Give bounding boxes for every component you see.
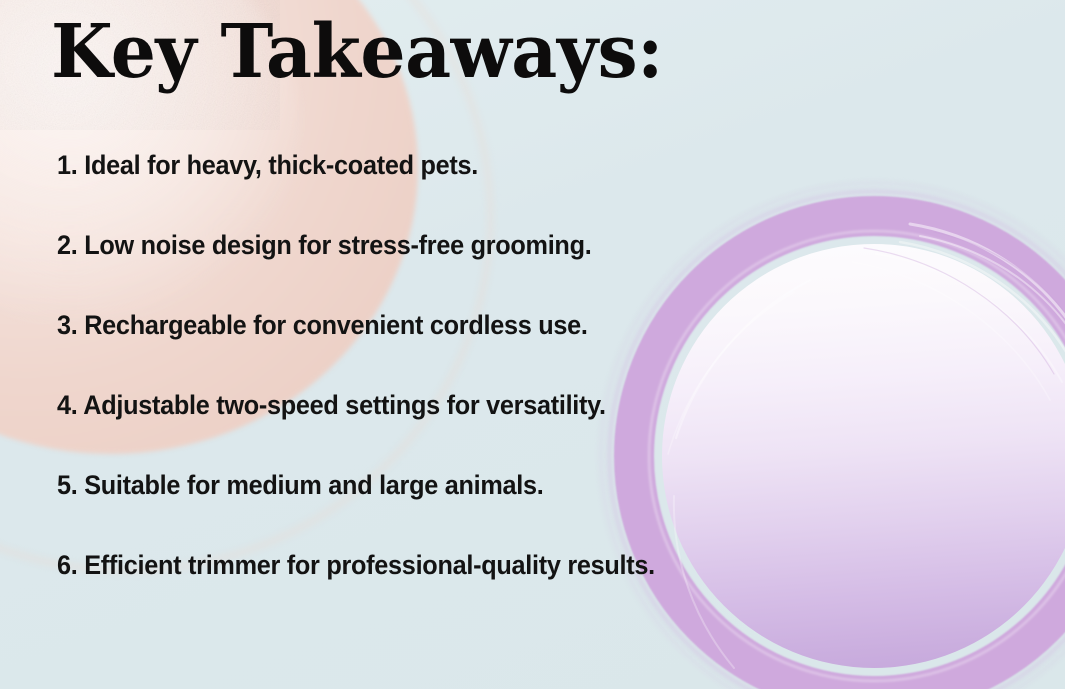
list-item: 5. Suitable for medium and large animals… bbox=[57, 472, 712, 552]
list-item: 4. Adjustable two-speed settings for ver… bbox=[57, 392, 712, 472]
list-item: 2. Low noise design for stress-free groo… bbox=[57, 232, 712, 312]
list-item: 3. Rechargeable for convenient cordless … bbox=[57, 312, 712, 392]
takeaways-graphic: Key Takeaways: 1. Ideal for heavy, thick… bbox=[0, 0, 1065, 689]
list-item: 6. Efficient trimmer for professional-qu… bbox=[57, 552, 712, 632]
list-item: 1. Ideal for heavy, thick-coated pets. bbox=[57, 152, 712, 232]
page-title: Key Takeaways: bbox=[51, 15, 663, 89]
takeaways-list: 1. Ideal for heavy, thick-coated pets. 2… bbox=[57, 152, 757, 632]
